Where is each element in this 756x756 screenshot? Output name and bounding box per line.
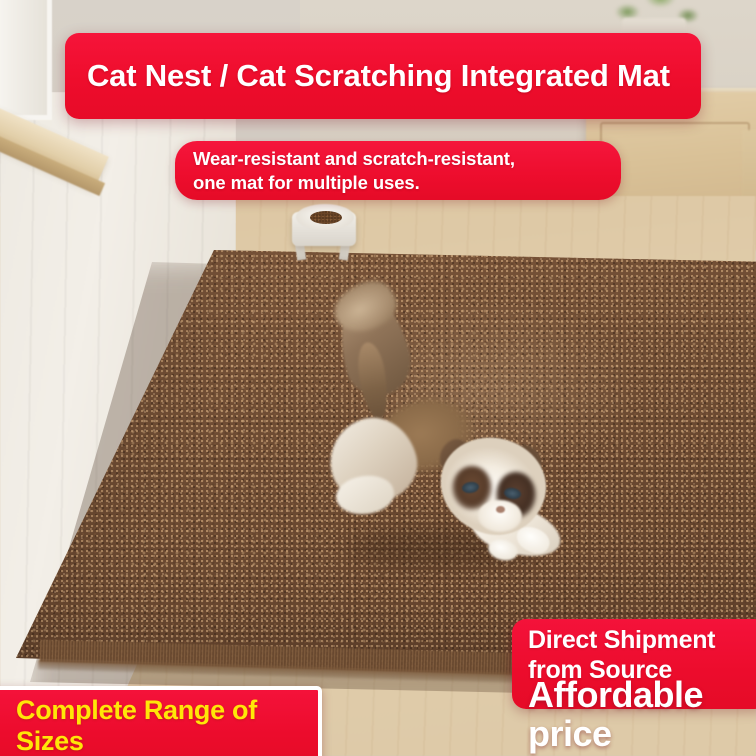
affordable-price-text: Affordable price — [512, 676, 756, 756]
complete-range-of-sizes-badge: Complete Range of Sizes — [0, 686, 322, 756]
shipment-badge-line-1: Direct Shipment — [528, 626, 756, 656]
price-text-line-2: price — [528, 715, 756, 754]
price-text-line-1: Affordable — [528, 676, 756, 715]
title-text: Cat Nest / Cat Scratching Integrated Mat — [87, 59, 670, 93]
subtitle-line-2: one mat for multiple uses. — [193, 171, 603, 195]
ragdoll-cat — [320, 290, 560, 560]
window-frame — [0, 0, 52, 120]
title-banner: Cat Nest / Cat Scratching Integrated Mat — [65, 33, 701, 119]
subtitle-line-1: Wear-resistant and scratch-resistant, — [193, 147, 603, 171]
cat-kibble — [310, 211, 342, 224]
subtitle-banner: Wear-resistant and scratch-resistant, on… — [175, 141, 621, 200]
product-poster: Cat Nest / Cat Scratching Integrated Mat… — [0, 0, 756, 756]
cat-muzzle — [478, 500, 522, 532]
cat-nose — [496, 506, 505, 513]
sizes-badge-line-1: Complete Range of — [16, 695, 304, 726]
sizes-badge-line-2: Sizes — [16, 726, 304, 756]
